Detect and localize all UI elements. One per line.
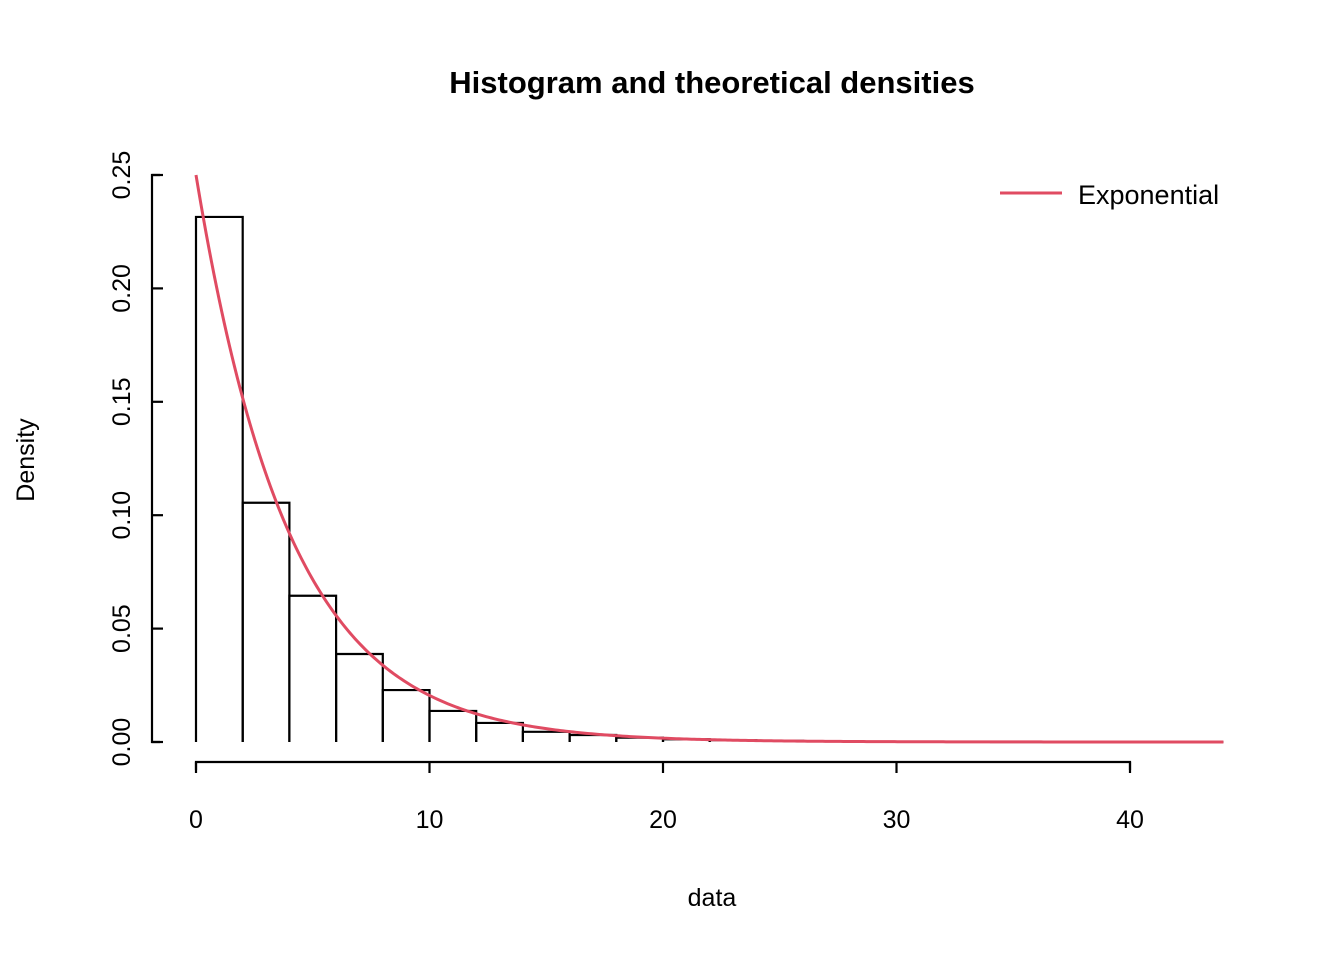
y-tick-label-2: 0.10 <box>108 491 136 540</box>
histogram-bar <box>336 654 383 742</box>
histogram-bar <box>430 711 477 742</box>
exponential-density-curve <box>196 175 1223 742</box>
histogram-bar <box>289 596 336 742</box>
y-tick-label-5: 0.25 <box>108 151 136 200</box>
histogram-bar <box>383 690 430 742</box>
x-tick-label-3: 30 <box>883 806 911 834</box>
histogram-bar <box>523 732 570 742</box>
legend: Exponential <box>1000 180 1219 210</box>
y-axis-line <box>152 175 160 742</box>
y-tick-label-4: 0.20 <box>108 264 136 313</box>
y-axis-title: Density <box>12 418 40 502</box>
histogram-bar <box>243 503 290 742</box>
x-axis-ticks <box>196 762 1130 773</box>
x-tick-label-2: 20 <box>649 806 677 834</box>
y-tick-label-1: 0.05 <box>108 604 136 653</box>
y-axis-ticks <box>152 175 163 742</box>
y-tick-label-0: 0.00 <box>108 718 136 767</box>
y-axis-tick-labels: 0.00 0.05 0.10 0.15 0.20 0.25 <box>108 151 136 767</box>
x-tick-label-4: 40 <box>1116 806 1144 834</box>
y-tick-label-3: 0.15 <box>108 377 136 426</box>
x-axis-title: data <box>688 884 737 912</box>
plot-canvas: Histogram and theoretical densities 0.00… <box>0 0 1344 960</box>
x-axis-tick-labels: 0 10 20 30 40 <box>189 806 1144 834</box>
histogram-bar <box>476 723 523 742</box>
legend-label-exponential: Exponential <box>1078 180 1219 210</box>
histogram-bars <box>196 217 1223 742</box>
histogram-density-plot: Histogram and theoretical densities 0.00… <box>0 0 1344 960</box>
x-tick-label-1: 10 <box>416 806 444 834</box>
page-title: Histogram and theoretical densities <box>449 65 974 100</box>
x-tick-label-0: 0 <box>189 806 203 834</box>
